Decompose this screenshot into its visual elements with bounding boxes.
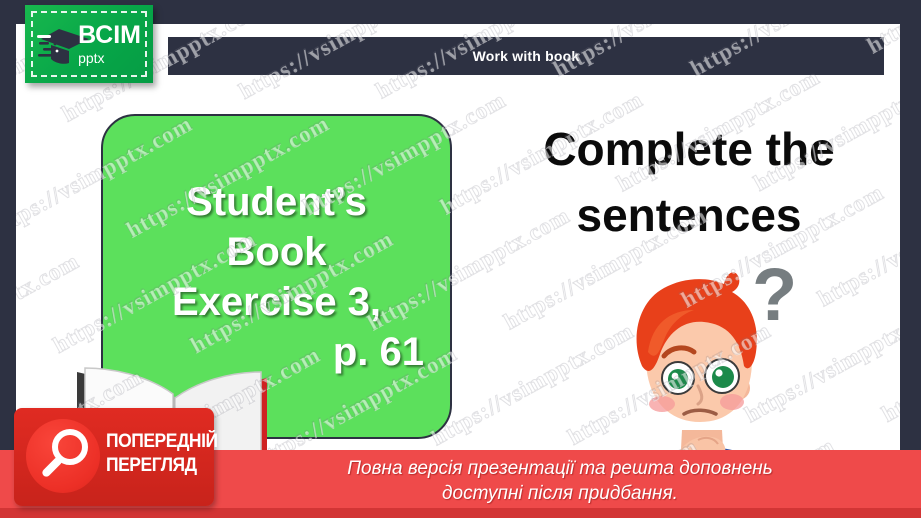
preview-badge-line-2: ПЕРЕГЛЯД	[106, 454, 202, 478]
watermark-text: https://vsimpptx.com	[16, 133, 19, 265]
preview-badge-circle	[26, 419, 100, 493]
exercise-card-line-2: Book	[123, 227, 430, 277]
logo-title: ВСІМ	[78, 23, 141, 48]
exercise-card-line-1: Student’s	[123, 177, 430, 227]
logo-text-block: ВСІМ pptx	[78, 23, 141, 66]
watermark-text: https://vsimpptx.com	[878, 295, 900, 427]
page-title-line-1: Complete the	[494, 116, 884, 182]
presentation-slide: Work with book Student’s Book Exercise 3…	[0, 0, 921, 518]
preview-badge-text: ПОПЕРЕДНІЙ ПЕРЕГЛЯД	[106, 430, 202, 478]
purchase-notice-text: Повна версія презентації та решта доповн…	[230, 456, 890, 506]
magnifier-icon	[26, 419, 100, 493]
page-title: Complete the sentences	[494, 116, 884, 248]
purchase-notice-line-1: Повна версія презентації та решта доповн…	[230, 456, 890, 481]
preview-badge-line-1: ПОПЕРЕДНІЙ	[106, 430, 202, 454]
vsimpptx-logo[interactable]: ВСІМ pptx	[25, 5, 153, 83]
logo-subtitle: pptx	[78, 50, 141, 66]
banner-bottom-strip	[0, 508, 921, 518]
slide-header-title: Work with book	[473, 48, 580, 64]
slide-header-bar: Work with book	[168, 37, 884, 75]
exercise-card-line-3: Exercise 3,	[123, 277, 430, 327]
purchase-notice-line-2: доступні після придбання.	[230, 481, 890, 506]
page-title-line-2: sentences	[494, 182, 884, 248]
preview-badge[interactable]: ПОПЕРЕДНІЙ ПЕРЕГЛЯД	[14, 408, 214, 506]
